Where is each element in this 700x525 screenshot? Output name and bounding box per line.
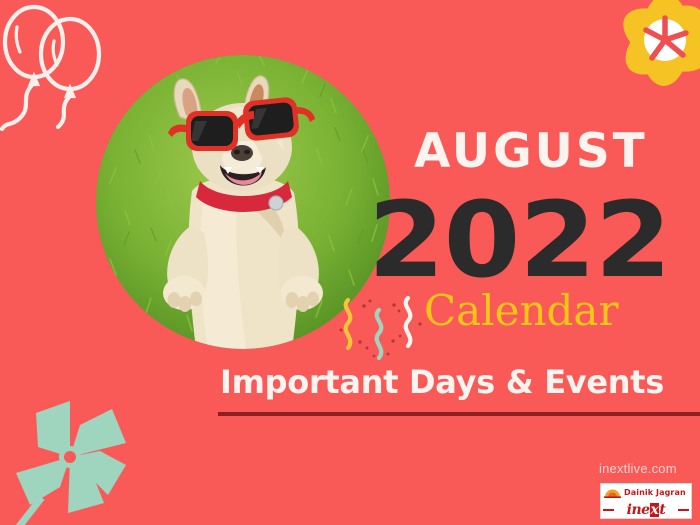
year-title: 2022 bbox=[368, 188, 671, 292]
logo-rule-right bbox=[678, 509, 689, 511]
squiggles-icon bbox=[336, 296, 426, 360]
logo-bottom-row: inext bbox=[601, 501, 691, 518]
logo-inext-suffix: t bbox=[659, 502, 665, 518]
subtitle-underline bbox=[218, 412, 700, 416]
sunrise-icon bbox=[604, 487, 621, 498]
logo-dainik-jagran-text: Dainik Jagran bbox=[624, 488, 686, 497]
logo-rule-left bbox=[603, 509, 614, 511]
calendar-word: Calendar bbox=[424, 290, 619, 332]
watermark-url: inextlive.com bbox=[599, 461, 677, 476]
logo-top-row: Dainik Jagran bbox=[601, 484, 691, 501]
subtitle: Important Days & Events bbox=[220, 366, 664, 398]
dainik-jagran-inext-logo: Dainik Jagran inext bbox=[600, 483, 692, 519]
pinwheel-icon bbox=[8, 395, 148, 525]
month-title: AUGUST bbox=[414, 128, 648, 175]
flower-icon bbox=[580, 0, 700, 120]
logo-inext-text: inext bbox=[627, 503, 666, 517]
balloons-icon bbox=[0, 0, 128, 131]
logo-inext-x: x bbox=[650, 503, 660, 517]
logo-inext-prefix: ine bbox=[627, 502, 650, 518]
august-2022-calendar-poster: AUGUST 2022 Calendar Important Days & Ev… bbox=[0, 0, 700, 525]
